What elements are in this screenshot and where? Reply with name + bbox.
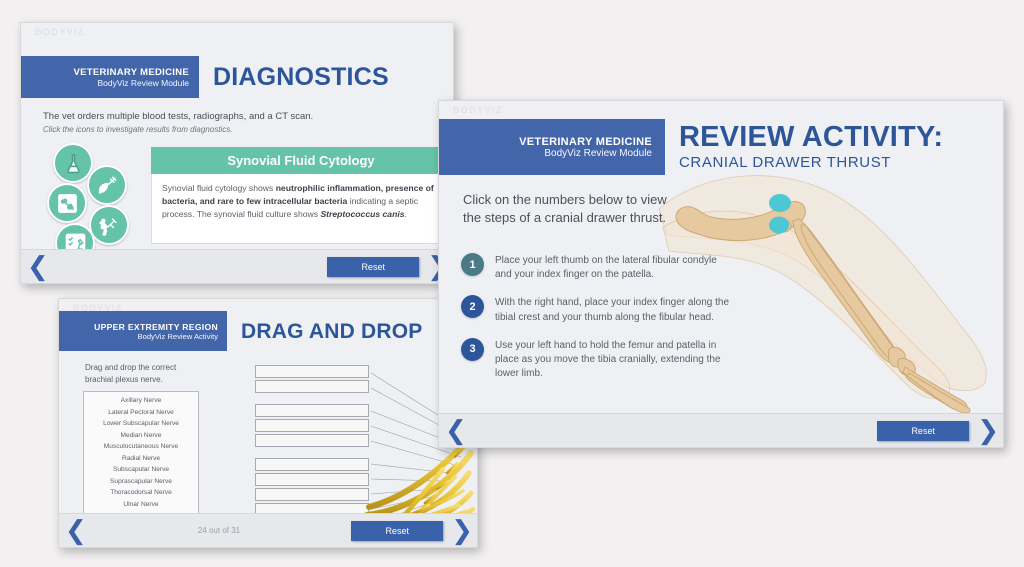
reset-button[interactable]: Reset: [351, 521, 443, 541]
nerve-option[interactable]: Suprascapular Nerve: [84, 476, 198, 488]
next-slide-button[interactable]: ❯: [977, 418, 999, 444]
reset-button[interactable]: Reset: [877, 421, 969, 441]
bone-syringe-icon[interactable]: [89, 205, 129, 245]
step-item[interactable]: 1 Place your left thumb on the lateral f…: [461, 253, 731, 282]
nerve-option[interactable]: Lower Subscapular Nerve: [84, 418, 198, 430]
step-list: 1 Place your left thumb on the lateral f…: [461, 253, 731, 394]
nerve-word-bank[interactable]: Axillary Nerve Lateral Pectoral Nerve Lo…: [83, 391, 199, 514]
nerve-option[interactable]: Subscapular Nerve: [84, 464, 198, 476]
header-titles: REVIEW ACTIVITY: CRANIAL DRAWER THRUST: [665, 119, 943, 175]
header-tag-line2: BodyViz Review Module: [98, 78, 190, 88]
bodyviz-watermark: BODYVIZ: [35, 27, 85, 37]
reset-button[interactable]: Reset: [327, 257, 419, 277]
highlight-patella: [769, 217, 789, 234]
header-tag-line1: VETERINARY MEDICINE: [519, 136, 652, 148]
diagnostics-lead-text: The vet orders multiple blood tests, rad…: [43, 111, 313, 122]
slide-header: UPPER EXTREMITY REGION BodyViz Review Ac…: [59, 311, 423, 351]
page-title: REVIEW ACTIVITY:: [679, 123, 943, 152]
header-titles: DIAGNOSTICS: [199, 56, 389, 98]
slide-deck-canvas: BODYVIZ VETERINARY MEDICINE BodyViz Revi…: [0, 0, 1024, 567]
nerve-option[interactable]: Lateral Pectoral Nerve: [84, 407, 198, 419]
page-title: DRAG AND DROP: [241, 321, 423, 342]
header-tag: VETERINARY MEDICINE BodyViz Review Modul…: [439, 119, 665, 175]
header-titles: DRAG AND DROP: [227, 311, 423, 351]
header-tag: UPPER EXTREMITY REGION BodyViz Review Ac…: [59, 311, 227, 351]
nerve-option[interactable]: Axillary Nerve: [84, 395, 198, 407]
prev-slide-button[interactable]: ❮: [445, 418, 467, 444]
nerve-option[interactable]: Median Nerve: [84, 430, 198, 442]
cytology-text-1: Synovial fluid cytology shows: [162, 183, 276, 193]
step-number-button[interactable]: 2: [461, 295, 484, 318]
next-slide-button[interactable]: ❯: [451, 518, 473, 544]
step-text: Use your left hand to hold the femur and…: [495, 338, 731, 382]
step-text: With the right hand, place your index fi…: [495, 295, 731, 324]
review-lead-text: Click on the numbers below to view the s…: [463, 191, 678, 227]
header-tag: VETERINARY MEDICINE BodyViz Review Modul…: [21, 56, 199, 98]
slide-header: VETERINARY MEDICINE BodyViz Review Modul…: [21, 56, 389, 98]
slide-diagnostics[interactable]: BODYVIZ VETERINARY MEDICINE BodyViz Revi…: [20, 22, 454, 284]
cytology-result-card: Synovial Fluid Cytology Synovial fluid c…: [151, 147, 451, 244]
bone-radiograph-icon[interactable]: [47, 183, 87, 223]
cytology-card-body: Synovial fluid cytology shows neutrophil…: [151, 174, 451, 244]
step-text: Place your left thumb on the lateral fib…: [495, 253, 731, 282]
slide-counter: 24 out of 31: [87, 526, 351, 535]
prev-slide-button[interactable]: ❮: [27, 254, 49, 280]
step-item[interactable]: 3 Use your left hand to hold the femur a…: [461, 338, 731, 382]
nerve-option[interactable]: Musculocutaneous Nerve: [84, 441, 198, 453]
syringe-leaf-icon[interactable]: [87, 165, 127, 205]
dragdrop-instruction: Drag and drop the correct brachial plexu…: [85, 362, 195, 385]
header-tag-line2: BodyViz Review Activity: [138, 332, 218, 341]
slide-header: VETERINARY MEDICINE BodyViz Review Modul…: [439, 119, 943, 175]
highlight-lateral-condyle: [769, 194, 791, 212]
bodyviz-watermark: BODYVIZ: [453, 105, 503, 115]
step-number-button[interactable]: 3: [461, 338, 484, 361]
slide-navbar: ❮ 24 out of 31 Reset ❯: [59, 513, 477, 547]
slide-navbar: ❮ Reset ❯: [21, 249, 453, 283]
header-tag-line2: BodyViz Review Module: [544, 148, 652, 159]
slide-navbar: ❮ Reset ❯: [439, 413, 1003, 447]
nerve-option[interactable]: Thoracodorsal Nerve: [84, 487, 198, 499]
nerve-option[interactable]: Radial Nerve: [84, 453, 198, 465]
flask-icon[interactable]: [53, 143, 93, 183]
page-subtitle: CRANIAL DRAWER THRUST: [679, 155, 943, 172]
slide-review-activity[interactable]: BODYVIZ: [438, 100, 1004, 448]
prev-slide-button[interactable]: ❮: [65, 518, 87, 544]
page-title: DIAGNOSTICS: [213, 65, 389, 90]
cytology-card-heading: Synovial Fluid Cytology: [151, 147, 451, 174]
nerve-option[interactable]: Ulnar Nerve: [84, 499, 198, 511]
diagnostics-instruction-text: Click the icons to investigate results f…: [43, 125, 232, 134]
cytology-italic-1: Streptococcus canis: [320, 209, 404, 219]
header-tag-line1: VETERINARY MEDICINE: [74, 67, 190, 78]
step-number-button[interactable]: 1: [461, 253, 484, 276]
slide-drag-and-drop[interactable]: BODYVIZ UPPER EXTREMITY REGION BodyViz R…: [58, 298, 478, 548]
header-tag-line1: UPPER EXTREMITY REGION: [94, 322, 218, 332]
cytology-text-3: .: [405, 209, 407, 219]
step-item[interactable]: 2 With the right hand, place your index …: [461, 295, 731, 324]
